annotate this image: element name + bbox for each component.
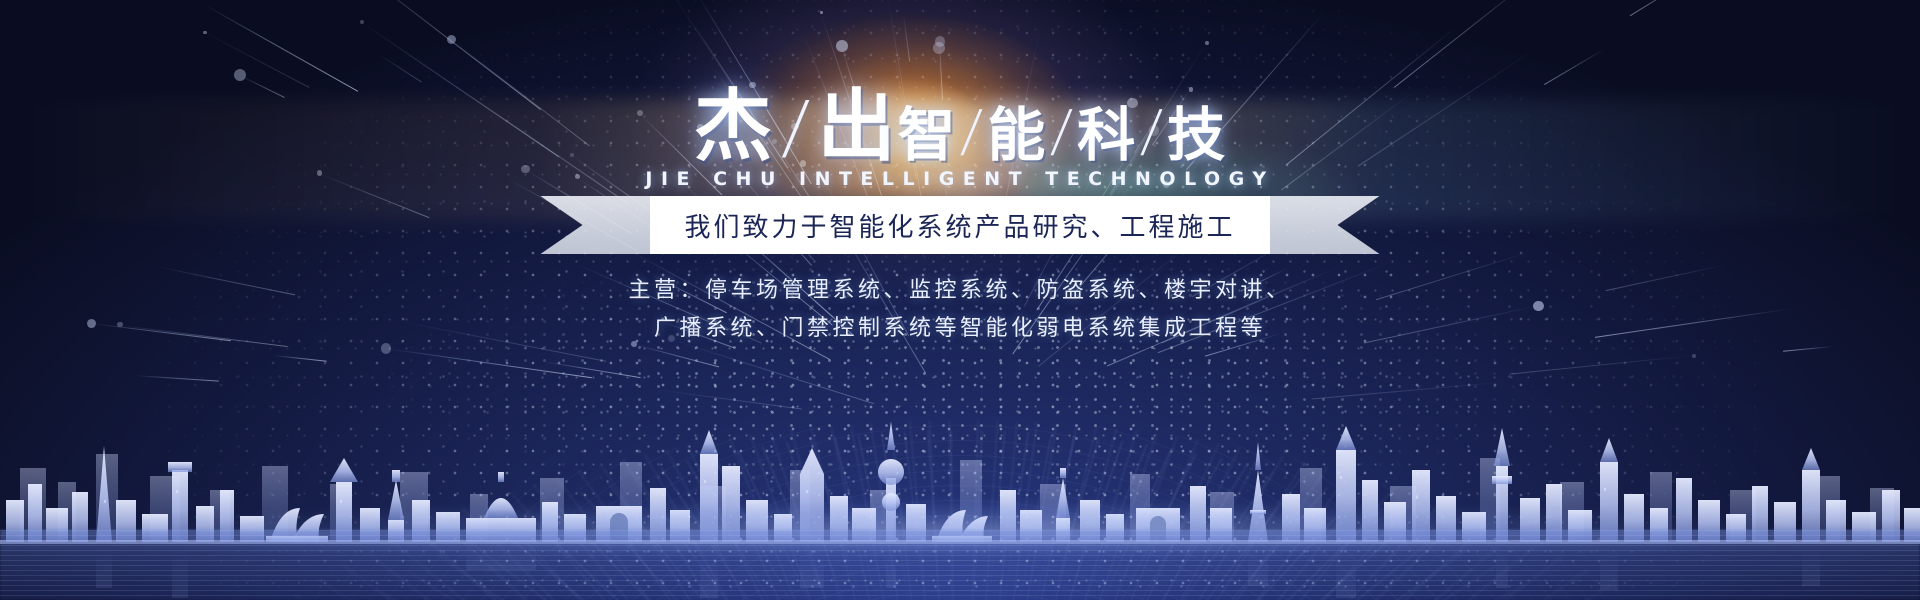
ribbon-tail-right [1270,196,1380,254]
title-char-jie: 杰 [694,88,774,166]
services-description: 主营：停车场管理系统、监控系统、防盗系统、楼宇对讲、 广播系统、门禁控制系统等智… [0,272,1920,348]
description-line-2: 广播系统、门禁控制系统等智能化弱电系统集成工程等 [0,310,1920,348]
title-slash-3: / [1049,104,1074,160]
title-char-chu: 出 [817,88,897,166]
title-slash-1: / [780,92,811,162]
main-title: 杰 / 出 智 / 能 / 科 / 技 [0,88,1920,166]
hero-banner: 杰 / 出 智 / 能 / 科 / 技 JIE CHU INTELLIGENT … [0,0,1920,600]
title-char-neng: 能 [987,106,1046,164]
water-shimmer-decoration [0,530,1920,600]
title-char-zhi: 智 [897,106,956,164]
city-skyline-illustration [0,350,1920,600]
ribbon-tail-left [540,196,650,254]
ribbon-slogan-text: 我们致力于智能化系统产品研究、工程施工 [684,207,1235,244]
english-subtitle: JIE CHU INTELLIGENT TECHNOLOGY [0,168,1920,190]
slogan-ribbon: 我们致力于智能化系统产品研究、工程施工 [0,196,1920,254]
title-char-ji: 技 [1167,106,1226,164]
ribbon-body: 我们致力于智能化系统产品研究、工程施工 [650,196,1269,254]
title-slash-2: / [960,104,985,160]
description-line-1: 主营：停车场管理系统、监控系统、防盗系统、楼宇对讲、 [0,272,1920,310]
title-slash-4: / [1139,104,1164,160]
title-char-ke: 科 [1077,106,1136,164]
